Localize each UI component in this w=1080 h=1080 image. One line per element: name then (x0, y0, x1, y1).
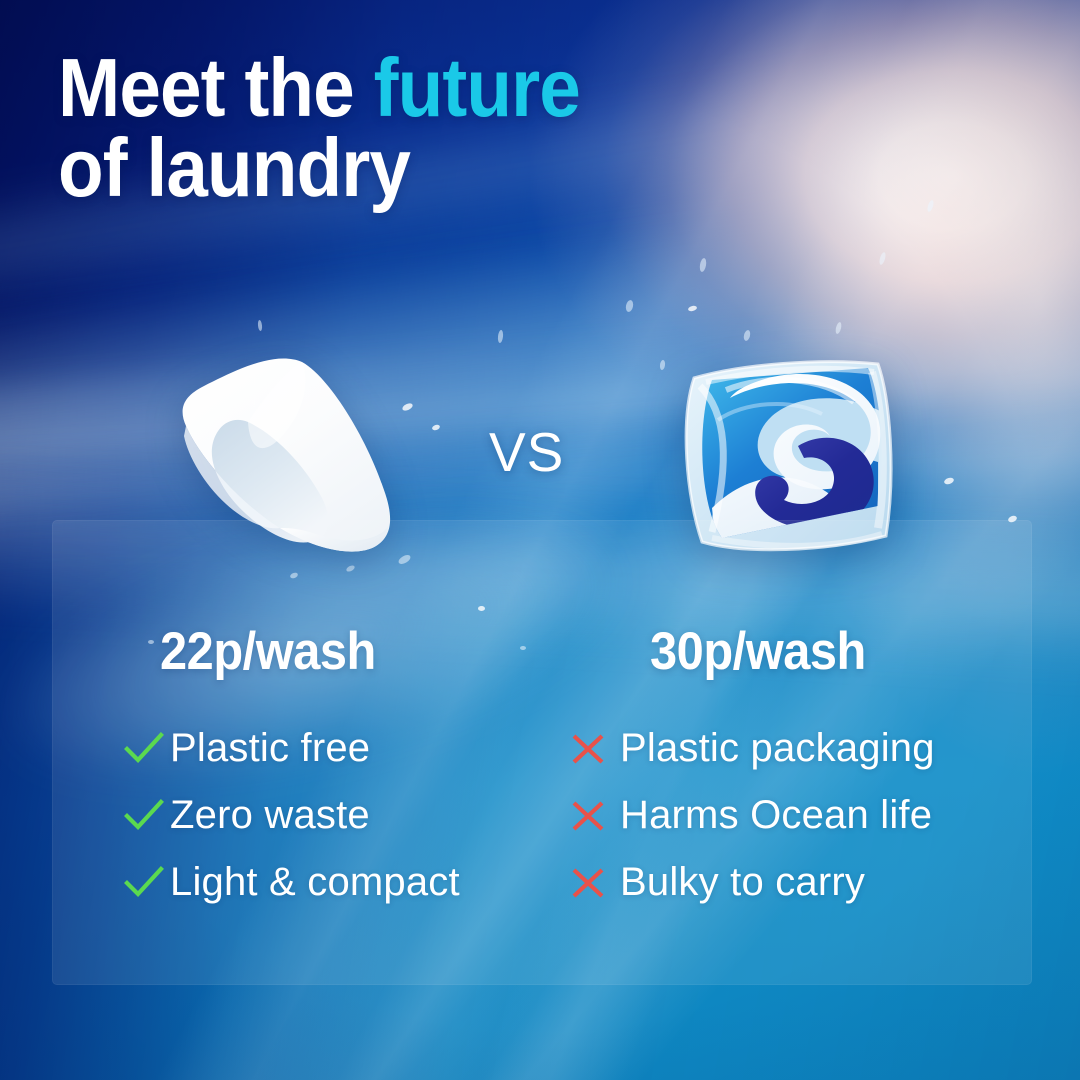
comparison-column-right: 30p/wash Plastic packaging (542, 520, 1032, 985)
list-item-label: Plastic packaging (620, 726, 935, 771)
list-item: Bulky to carry (570, 849, 1024, 916)
check-icon (124, 799, 170, 833)
list-item: Light & compact (124, 849, 534, 916)
cross-icon (570, 799, 620, 833)
page-title: Meet the future of laundry (58, 48, 778, 207)
list-item: Plastic free (124, 715, 534, 782)
cross-icon (570, 866, 620, 900)
promo-canvas: Meet the future of laundry (0, 0, 1080, 1080)
drawback-list-right: Plastic packaging Harms Ocean life (570, 715, 1024, 916)
headline-line2: of laundry (58, 121, 410, 214)
list-item-label: Harms Ocean life (620, 793, 932, 838)
list-item-label: Bulky to carry (620, 860, 865, 905)
list-item: Harms Ocean life (570, 782, 1024, 849)
versus-label: VS (489, 420, 564, 484)
comparison-column-left: 22p/wash Plastic free (52, 520, 542, 985)
check-icon (124, 732, 170, 766)
cross-icon (570, 732, 620, 766)
list-item: Plastic packaging (570, 715, 1024, 782)
benefit-list-left: Plastic free Zero waste (124, 715, 534, 916)
price-heading-left: 22p/wash (160, 621, 376, 682)
price-heading-right: 30p/wash (650, 621, 866, 682)
check-icon (124, 866, 170, 900)
list-item-label: Zero waste (170, 793, 370, 838)
list-item-label: Light & compact (170, 860, 460, 905)
list-item-label: Plastic free (170, 726, 370, 771)
comparison-panel: 22p/wash Plastic free (52, 520, 1032, 985)
list-item: Zero waste (124, 782, 534, 849)
